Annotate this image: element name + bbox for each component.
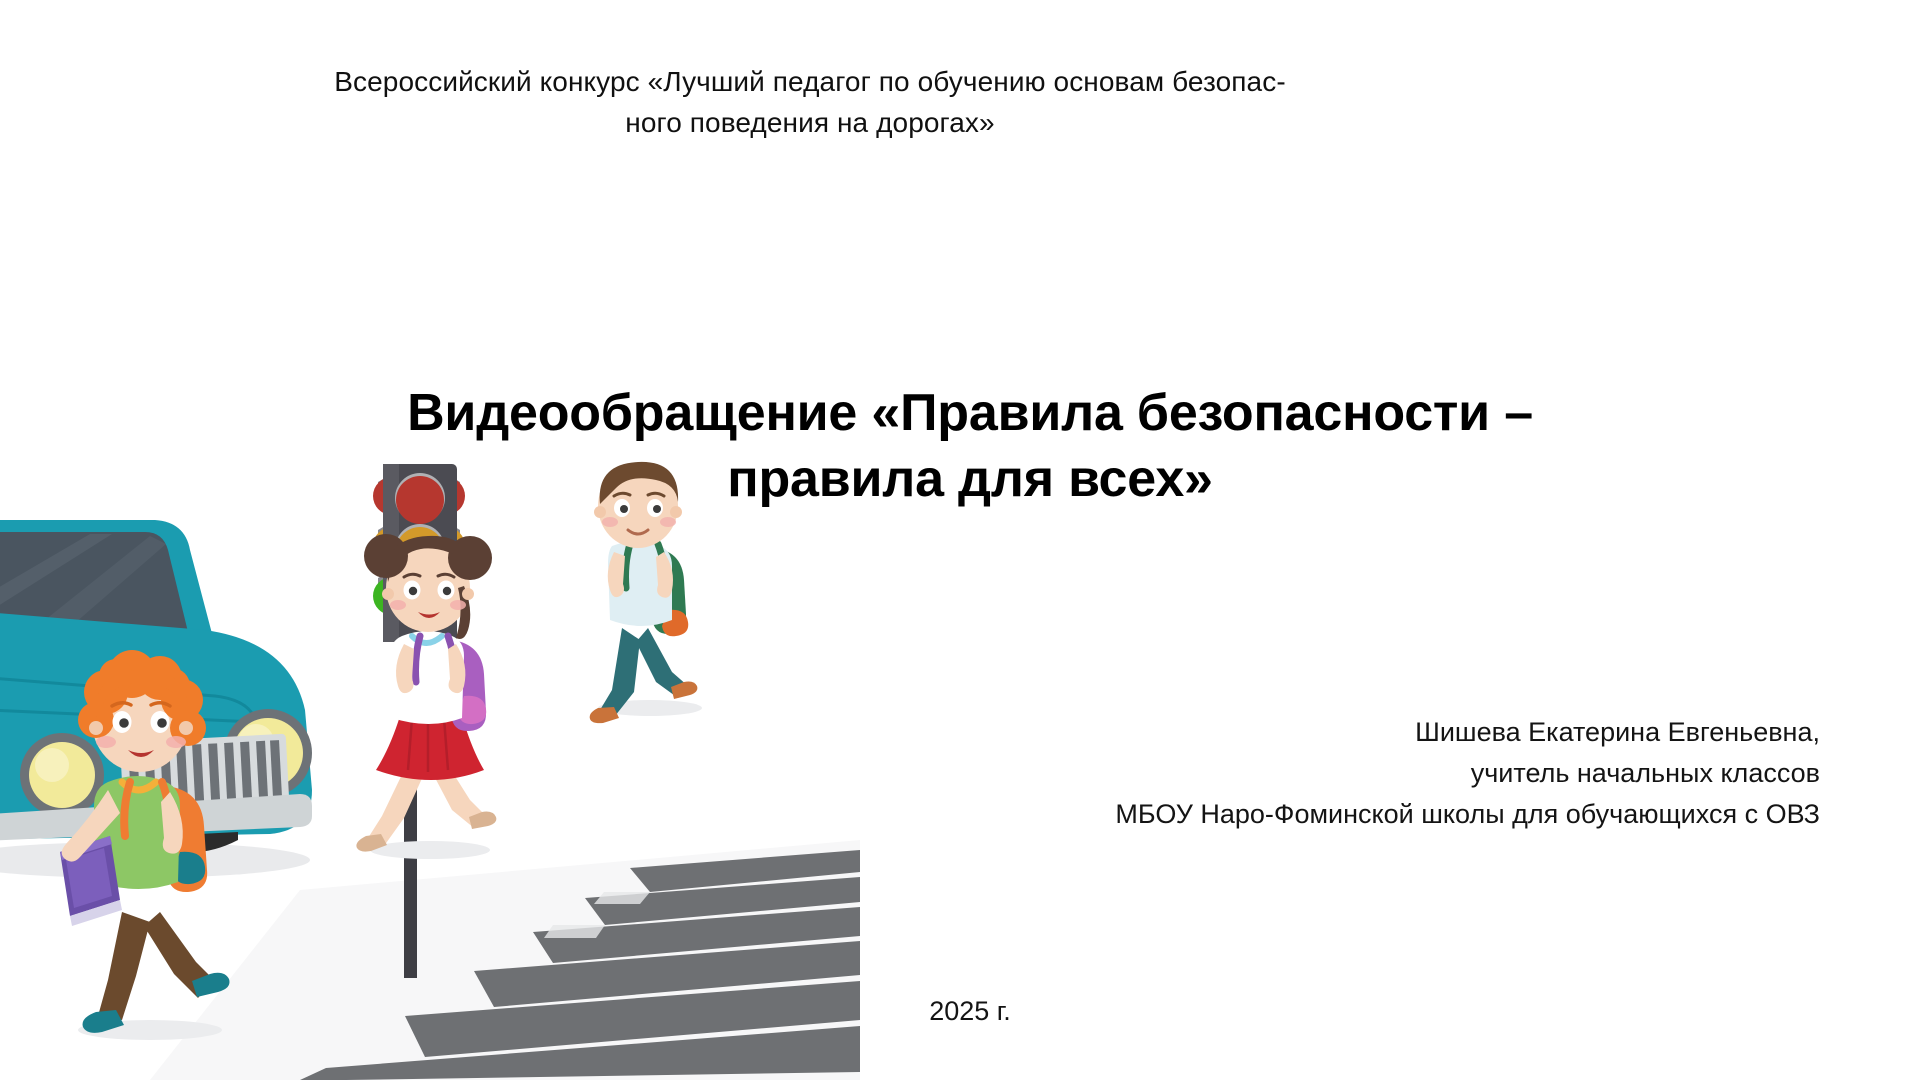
- hair: [78, 650, 206, 746]
- traffic-light: [373, 464, 465, 978]
- author-name: Шишева Екатерина Евгеньевна,: [640, 712, 1820, 753]
- competition-line-1: Всероссийский конкурс «Лучший педагог по…: [300, 62, 1320, 103]
- competition-header: Всероссийский конкурс «Лучший педагог по…: [300, 62, 1320, 144]
- boy-with-book: [60, 650, 230, 1040]
- year-label: 2025 г.: [760, 996, 1180, 1027]
- car: [0, 520, 312, 878]
- author-position: учитель начальных классов: [640, 753, 1820, 794]
- book: [60, 836, 122, 926]
- pedestrian-signal-icon: [406, 584, 430, 617]
- competition-line-2: ного поведения на дорогах»: [300, 103, 1320, 144]
- girl-with-backpack: [356, 534, 496, 859]
- presentation-slide: Всероссийский конкурс «Лучший педагог по…: [0, 0, 1920, 1080]
- author-organization: МБОУ Наро-Фоминской школы для обучающихс…: [640, 794, 1820, 835]
- title-line-1: Видеообращение «Правила безопасности –: [300, 380, 1640, 447]
- page-title: Видеообращение «Правила безопасности – п…: [300, 380, 1640, 513]
- crosswalk-stripes: [150, 840, 860, 1080]
- author-block: Шишева Екатерина Евгеньевна, учитель нач…: [640, 712, 1820, 835]
- title-line-2: правила для всех»: [300, 446, 1640, 513]
